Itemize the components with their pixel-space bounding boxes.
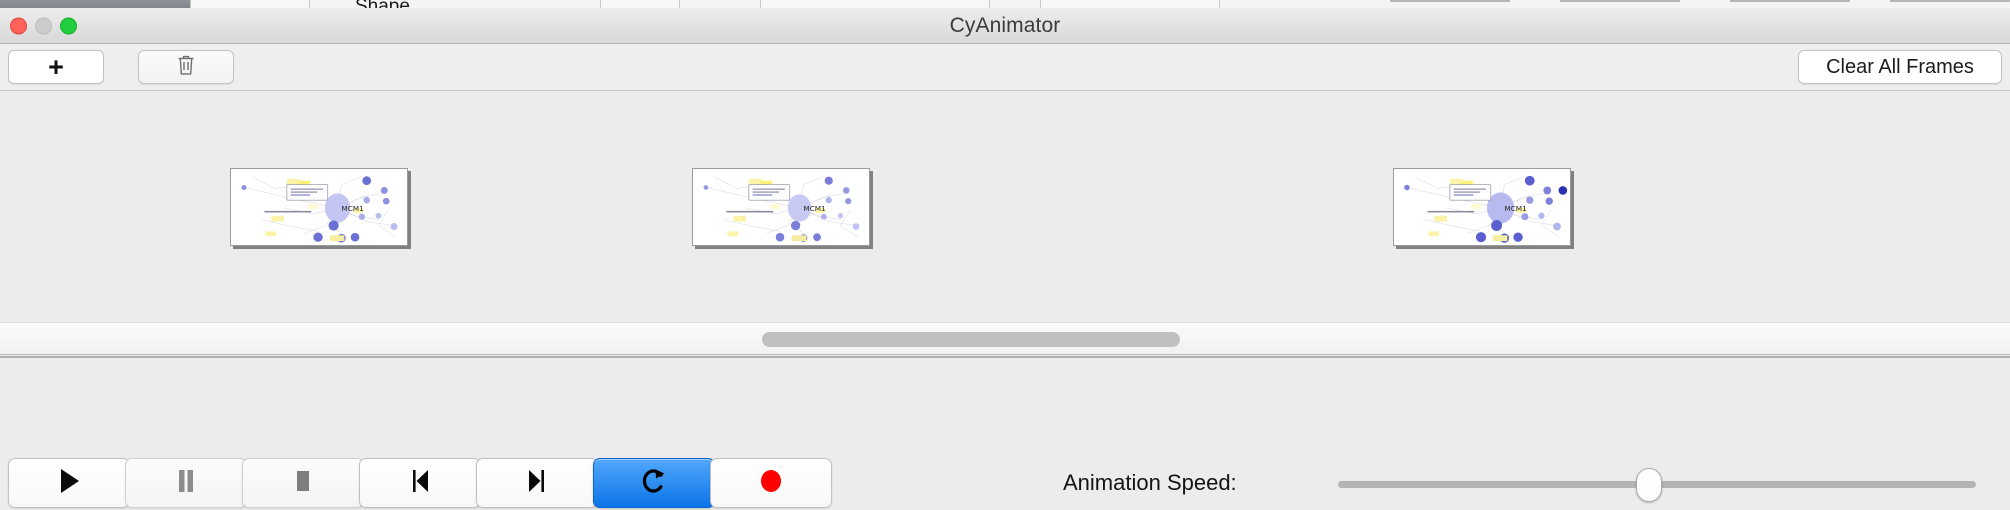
window-title: CyAnimator <box>0 14 2010 38</box>
timeline-panel[interactable]: MCM1 <box>0 91 2010 341</box>
svg-text:MCM1: MCM1 <box>341 204 363 213</box>
traffic-light-group <box>10 17 77 34</box>
loop-button[interactable] <box>593 458 715 508</box>
play-button[interactable] <box>8 458 130 508</box>
frame-thumbnail-2[interactable]: MCM1 <box>692 168 870 246</box>
trash-icon <box>176 53 196 82</box>
window-titlebar: CyAnimator <box>0 8 2010 44</box>
frame-thumbnail-1[interactable]: MCM1 <box>230 168 408 246</box>
animation-speed-slider-knob[interactable] <box>1636 468 1662 502</box>
frame-thumbnail-3[interactable]: MCM1 <box>1393 168 1571 246</box>
skip-backward-icon <box>409 468 431 499</box>
minimize-button[interactable] <box>35 17 52 34</box>
horizontal-scrollbar[interactable] <box>0 322 2010 355</box>
skip-forward-icon <box>526 468 548 499</box>
skip-to-end-button[interactable] <box>476 458 598 508</box>
record-button[interactable] <box>710 458 832 508</box>
record-icon <box>758 468 784 499</box>
scroll-thumb[interactable] <box>762 332 1180 347</box>
svg-text:MCM1: MCM1 <box>803 204 825 213</box>
network-graph-preview: MCM1 <box>1394 169 1570 245</box>
svg-text:MCM1: MCM1 <box>1504 204 1526 213</box>
stop-button[interactable] <box>242 458 364 508</box>
network-graph-preview: MCM1 <box>693 169 869 245</box>
pause-button[interactable] <box>125 458 247 508</box>
network-graph-preview: MCM1 <box>231 169 407 245</box>
pause-icon <box>175 468 197 499</box>
toolbar: + Clear All Frames <box>0 44 2010 91</box>
add-frame-button[interactable]: + <box>8 50 104 84</box>
maximize-button[interactable] <box>60 17 77 34</box>
stop-icon <box>292 468 314 499</box>
clear-all-frames-button[interactable]: Clear All Frames <box>1798 50 2002 84</box>
loop-icon <box>641 467 667 500</box>
animation-speed-label: Animation Speed: <box>1063 470 1237 496</box>
close-button[interactable] <box>10 17 27 34</box>
skip-to-start-button[interactable] <box>359 458 481 508</box>
play-icon <box>58 468 80 499</box>
delete-frame-button[interactable] <box>138 50 234 84</box>
plus-icon: + <box>48 54 64 81</box>
